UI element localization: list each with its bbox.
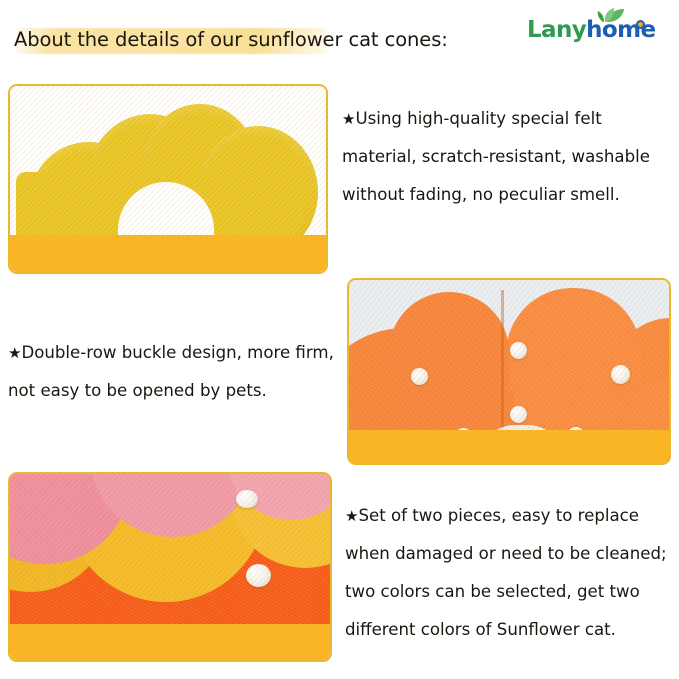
page-header: About the details of our sunflower cat c… (0, 0, 679, 72)
felt-seam-line (501, 290, 504, 440)
feature-2-body: Double-row buckle design, more firm, not… (8, 343, 334, 400)
feature-1-body: Using high-quality special felt material… (342, 109, 650, 204)
feature-text-2: ★Double-row buckle design, more firm, no… (8, 334, 348, 410)
page-title: About the details of our sunflower cat c… (14, 28, 448, 51)
photo-2-image (349, 280, 669, 463)
product-photo-card-1: Lanyihome (8, 84, 328, 274)
snap-button-7 (236, 490, 258, 508)
snap-button-3 (510, 406, 527, 423)
feature-3-body: Set of two pieces, easy to replace when … (345, 506, 667, 639)
logo-text-blue: home (586, 17, 655, 43)
photo-1-image: Lanyihome (10, 86, 326, 272)
snap-button-2 (510, 342, 527, 359)
star-icon-1: ★ (342, 110, 355, 128)
photo-3-bottom-band (10, 624, 330, 660)
logo-text-green: Lany (527, 17, 586, 43)
logo-dot-icon (636, 20, 645, 29)
brand-logo: Lanyhome (527, 8, 667, 44)
photo-3-image (10, 474, 330, 660)
feature-text-3: ★Set of two pieces, easy to replace when… (345, 497, 673, 649)
product-photo-card-3 (8, 472, 332, 662)
snap-button-1 (411, 368, 428, 385)
logo-wordmark: Lanyhome (527, 18, 656, 43)
product-photo-card-2 (347, 278, 671, 465)
photo-2-bottom-band (349, 430, 669, 463)
feature-text-1: ★Using high-quality special felt materia… (342, 100, 672, 214)
page-title-wrapper: About the details of our sunflower cat c… (14, 22, 448, 56)
photo-1-bottom-band (10, 235, 326, 272)
star-icon-2: ★ (8, 344, 21, 362)
snap-button-8 (246, 564, 271, 587)
star-icon-3: ★ (345, 507, 358, 525)
snap-button-4 (611, 365, 630, 384)
